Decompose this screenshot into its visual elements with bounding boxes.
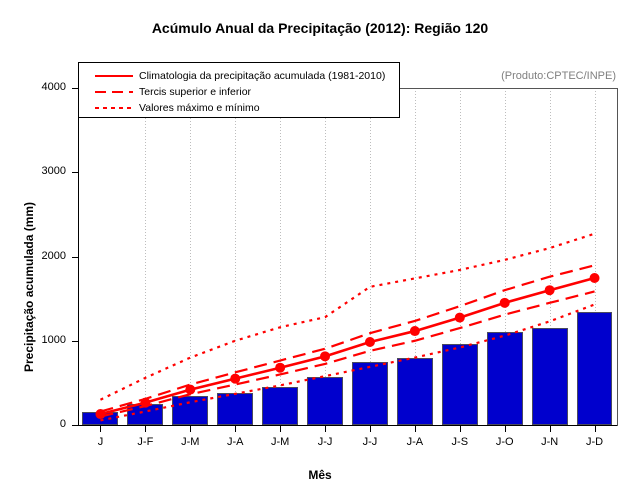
x-axis-tick	[415, 426, 416, 432]
x-axis-tick	[190, 426, 191, 432]
chart-title: Acúmulo Anual da Precipitação (2012): Re…	[0, 20, 640, 36]
y-axis-tick-label: 4000	[16, 81, 66, 93]
product-credit: (Produto:CPTEC/INPE)	[501, 70, 616, 82]
legend-label-climatology: Climatologia da precipitação acumulada (…	[139, 68, 385, 84]
y-axis-tick-label: 0	[16, 418, 66, 430]
x-axis-tick-label: J-D	[565, 436, 625, 448]
grid-line	[325, 88, 326, 425]
x-axis-tick	[460, 426, 461, 432]
bar	[397, 358, 433, 425]
legend-label-extremes: Valores máximo e mínimo	[139, 100, 260, 116]
grid-line	[235, 88, 236, 425]
bar	[217, 393, 253, 425]
plot-border-right	[617, 88, 618, 426]
x-axis-tick	[325, 426, 326, 432]
grid-line	[145, 88, 146, 425]
x-axis-tick	[505, 426, 506, 432]
x-axis-label: Mês	[0, 468, 640, 482]
x-axis-tick	[595, 426, 596, 432]
bar	[487, 332, 523, 425]
grid-line	[190, 88, 191, 425]
bar	[442, 344, 478, 425]
y-axis-tick-label: 2000	[16, 250, 66, 262]
bar	[172, 396, 208, 425]
y-axis-tick-label: 1000	[16, 334, 66, 346]
x-axis-line	[78, 425, 617, 426]
bar	[127, 404, 163, 425]
y-axis-label: Precipitação acumulada (mm)	[22, 202, 36, 372]
legend-label-terciles: Tercis superior e inferior	[139, 84, 251, 100]
bar	[262, 387, 298, 425]
x-axis-tick	[280, 426, 281, 432]
y-axis-tick-label: 3000	[16, 165, 66, 177]
legend-key-solid-icon	[95, 75, 133, 77]
legend-key-dashed-icon	[95, 91, 133, 93]
x-axis-tick	[235, 426, 236, 432]
legend-key-dotted-icon	[95, 107, 133, 109]
x-axis-tick	[370, 426, 371, 432]
grid-line	[280, 88, 281, 425]
bar	[307, 377, 343, 425]
x-axis-tick	[145, 426, 146, 432]
bar	[82, 412, 118, 425]
y-axis-line	[78, 88, 79, 426]
precipitation-chart: Acúmulo Anual da Precipitação (2012): Re…	[0, 0, 640, 500]
x-axis-tick	[100, 426, 101, 432]
bar	[352, 362, 388, 425]
bar	[532, 328, 568, 425]
x-axis-tick	[550, 426, 551, 432]
legend: Climatologia da precipitação acumulada (…	[78, 62, 400, 118]
bar	[577, 312, 613, 425]
